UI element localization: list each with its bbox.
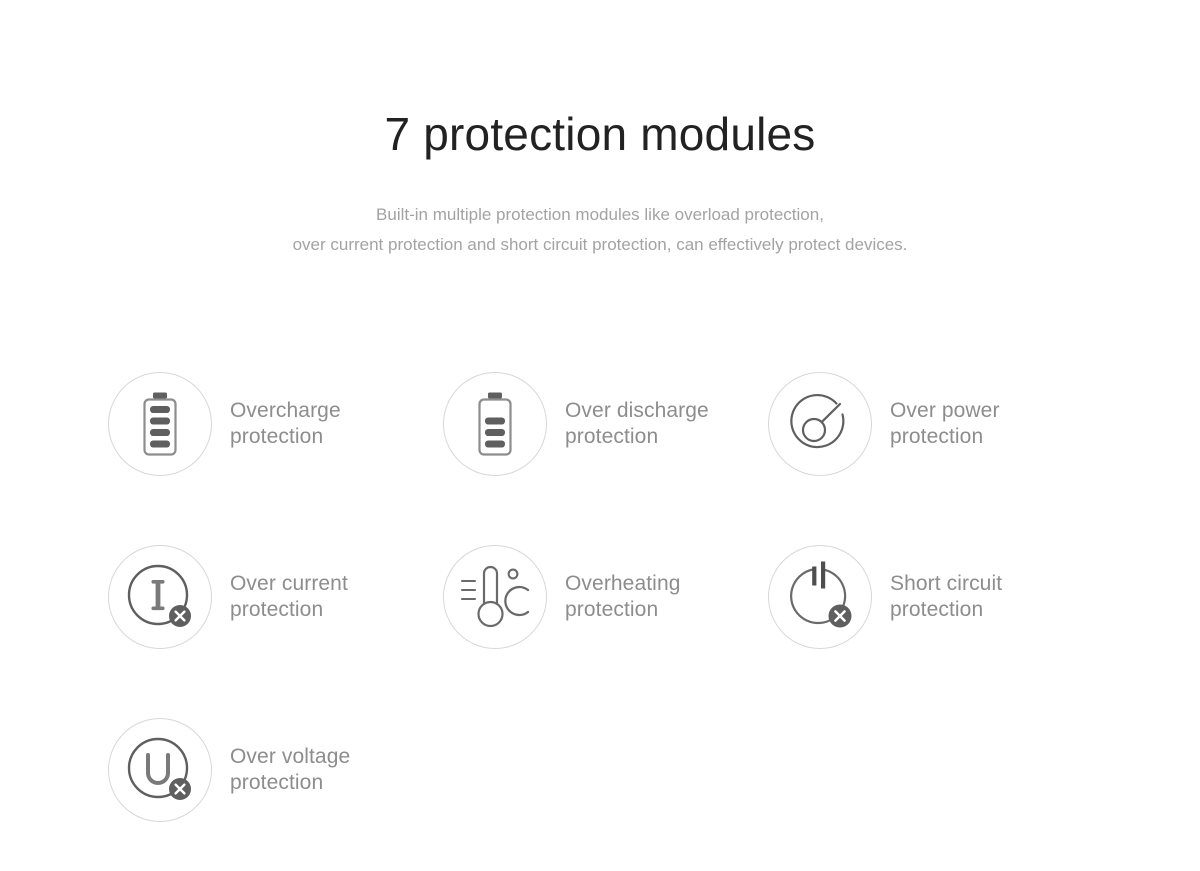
error-badge-icon	[169, 605, 191, 627]
module-label-line-1: Overheating	[565, 571, 681, 597]
module-label-line-1: Over discharge	[565, 398, 709, 424]
module-label-line-2: protection	[565, 597, 681, 623]
page-subtitle-line-1: Built-in multiple protection modules lik…	[0, 200, 1200, 230]
module-item-over-power: Over power protection	[768, 337, 1118, 510]
module-label-over-power: Over power protection	[890, 398, 1000, 450]
module-label-overcharge: Overcharge protection	[230, 398, 341, 450]
battery-low-icon	[474, 391, 516, 457]
module-label-line-2: protection	[230, 597, 348, 623]
module-icon-circle-short-circuit	[768, 545, 872, 649]
module-icon-circle-overheating	[443, 545, 547, 649]
module-item-over-voltage: Over voltage protection	[108, 683, 443, 856]
error-badge-icon	[829, 604, 852, 627]
thermometer-celsius-icon	[458, 564, 532, 630]
module-label-line-1: Over current	[230, 571, 348, 597]
module-label-line-1: Overcharge	[230, 398, 341, 424]
current-i-circle-icon	[122, 559, 198, 635]
module-icon-circle-over-power	[768, 372, 872, 476]
module-item-overcharge: Overcharge protection	[108, 337, 443, 510]
module-icon-circle-over-current	[108, 545, 212, 649]
module-item-over-discharge: Over discharge protection	[443, 337, 768, 510]
module-icon-circle-over-voltage	[108, 718, 212, 822]
module-label-line-2: protection	[565, 424, 709, 450]
error-badge-icon	[169, 778, 191, 800]
page-subtitle-line-2: over current protection and short circui…	[0, 230, 1200, 260]
voltage-u-circle-icon	[122, 732, 198, 808]
module-label-line-2: protection	[230, 770, 350, 796]
module-label-line-1: Over power	[890, 398, 1000, 424]
module-label-line-2: protection	[890, 424, 1000, 450]
module-label-short-circuit: Short circuit protection	[890, 571, 1002, 623]
module-icon-circle-over-discharge	[443, 372, 547, 476]
module-label-line-2: protection	[230, 424, 341, 450]
module-label-line-1: Short circuit	[890, 571, 1002, 597]
module-label-overheating: Overheating protection	[565, 571, 681, 623]
protection-modules-grid: Overcharge protection Over discharg	[108, 337, 1118, 856]
module-label-over-voltage: Over voltage protection	[230, 744, 350, 796]
module-label-line-1: Over voltage	[230, 744, 350, 770]
page-title: 7 protection modules	[0, 103, 1200, 165]
module-label-over-discharge: Over discharge protection	[565, 398, 709, 450]
module-icon-circle-overcharge	[108, 372, 212, 476]
protection-modules-page: 7 protection modules Built-in multiple p…	[0, 0, 1200, 871]
battery-full-icon	[139, 391, 181, 457]
module-item-over-current: Over current protection	[108, 510, 443, 683]
power-gauge-icon	[784, 388, 856, 460]
module-label-over-current: Over current protection	[230, 571, 348, 623]
module-item-overheating: Overheating protection	[443, 510, 768, 683]
short-circuit-loop-icon	[782, 559, 858, 635]
page-subtitle: Built-in multiple protection modules lik…	[0, 200, 1200, 260]
module-label-line-2: protection	[890, 597, 1002, 623]
module-item-short-circuit: Short circuit protection	[768, 510, 1118, 683]
